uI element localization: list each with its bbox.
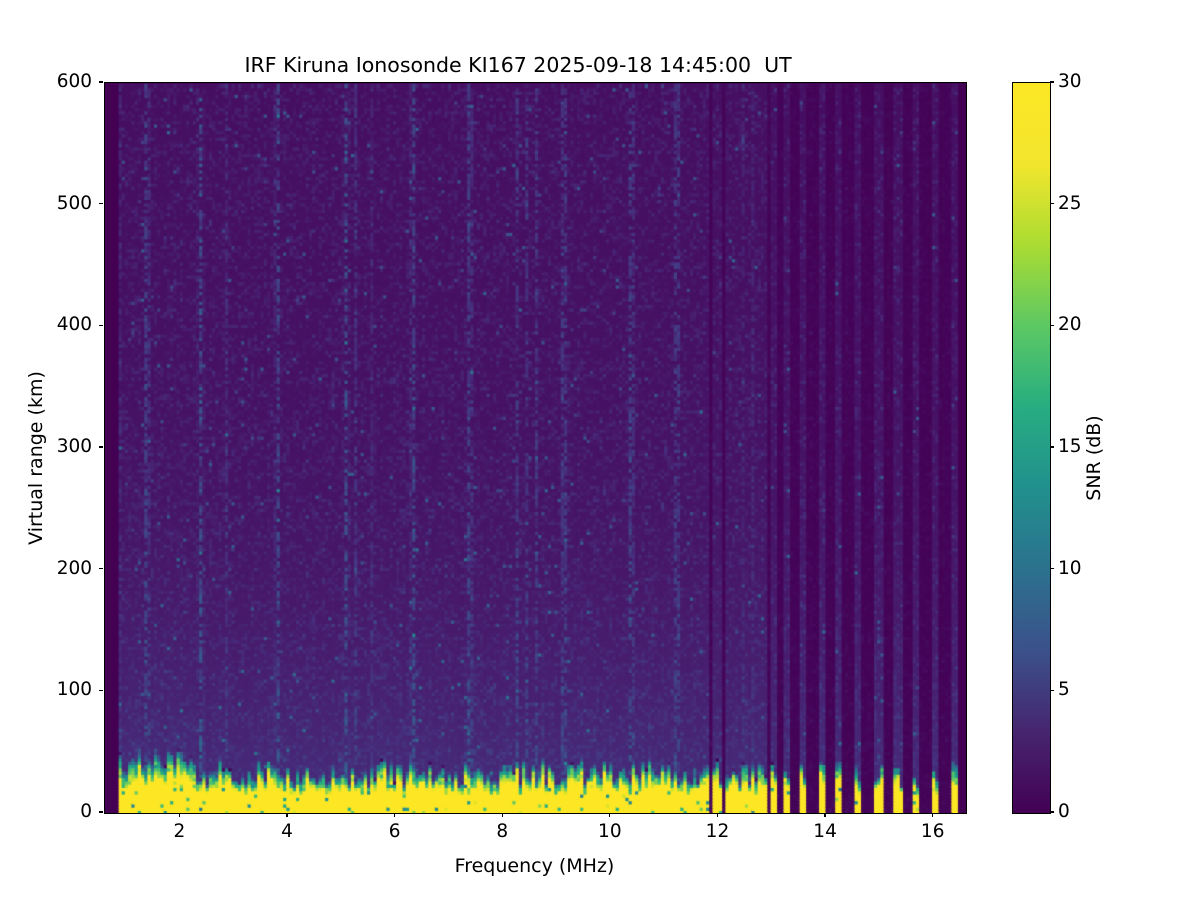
y-tick-label: 0 — [22, 801, 92, 822]
x-tick-mark — [717, 813, 718, 817]
colorbar-tick-mark — [1050, 568, 1054, 569]
x-tick-label: 8 — [467, 821, 537, 842]
x-tick-mark — [502, 813, 503, 817]
ionogram-heatmap — [105, 83, 966, 813]
y-tick-mark — [99, 325, 103, 326]
x-tick-label: 12 — [682, 821, 752, 842]
y-tick-mark — [99, 690, 103, 691]
colorbar-tick-mark — [1050, 690, 1054, 691]
x-tick-label: 10 — [575, 821, 645, 842]
title-line-1: IRF Kiruna Ionosonde KI167 2025-09-18 14… — [244, 53, 791, 77]
colorbar — [1012, 82, 1051, 814]
y-tick-label: 100 — [22, 679, 92, 700]
colorbar-tick-mark — [1050, 81, 1054, 82]
y-tick-mark — [99, 811, 103, 812]
colorbar-tick-label: 30 — [1058, 71, 1118, 92]
colorbar-tick-label: 25 — [1058, 193, 1118, 214]
y-tick-label: 600 — [22, 71, 92, 92]
x-tick-mark — [286, 813, 287, 817]
y-tick-mark — [99, 568, 103, 569]
y-tick-mark — [99, 81, 103, 82]
colorbar-tick-label: 20 — [1058, 314, 1118, 335]
colorbar-tick-mark — [1050, 446, 1054, 447]
x-tick-label: 16 — [898, 821, 968, 842]
x-axis-label: Frequency (MHz) — [104, 855, 965, 877]
x-tick-mark — [824, 813, 825, 817]
x-tick-mark — [609, 813, 610, 817]
x-tick-label: 4 — [252, 821, 322, 842]
x-tick-mark — [179, 813, 180, 817]
colorbar-tick-mark — [1050, 203, 1054, 204]
x-tick-label: 2 — [144, 821, 214, 842]
y-tick-mark — [99, 446, 103, 447]
x-tick-mark — [932, 813, 933, 817]
colorbar-tick-mark — [1050, 325, 1054, 326]
ionogram-axes — [104, 82, 967, 814]
x-tick-mark — [394, 813, 395, 817]
colorbar-tick-label: 5 — [1058, 679, 1118, 700]
colorbar-tick-label: 0 — [1058, 801, 1118, 822]
colorbar-label: SNR (dB) — [1083, 348, 1105, 568]
ionogram-figure: IRF Kiruna Ionosonde KI167 2025-09-18 14… — [0, 0, 1200, 900]
y-tick-mark — [99, 203, 103, 204]
colorbar-tick-mark — [1050, 811, 1054, 812]
x-tick-label: 14 — [790, 821, 860, 842]
y-tick-label: 500 — [22, 193, 92, 214]
x-tick-label: 6 — [360, 821, 430, 842]
y-axis-label: Virtual range (km) — [25, 328, 47, 588]
